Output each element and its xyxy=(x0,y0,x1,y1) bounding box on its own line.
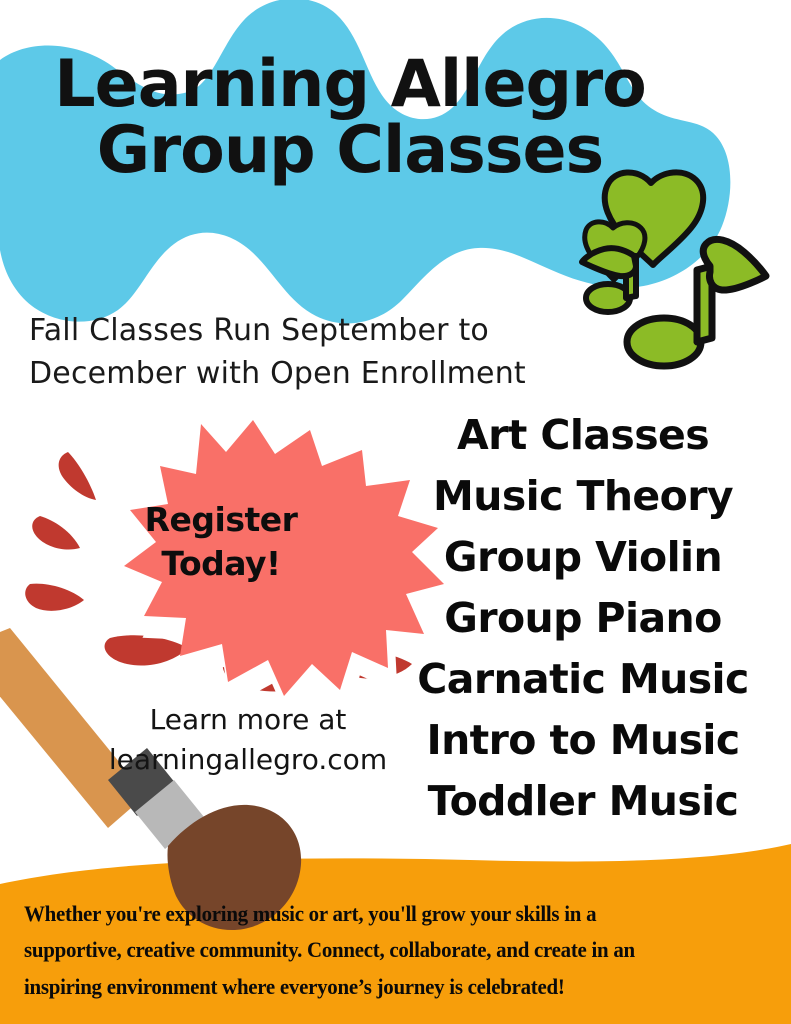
poster-canvas: Learning Allegro Group Classes Fall Clas… xyxy=(0,0,791,1024)
footer-line-2: supportive, creative community. Connect,… xyxy=(24,932,675,968)
subtitle: Fall Classes Run September to December w… xyxy=(29,310,549,395)
class-list: Art Classes Music Theory Group Violin Gr… xyxy=(403,405,763,833)
subtitle-line-1: Fall Classes Run September to xyxy=(29,310,549,353)
footer-description: Whether you're exploring music or art, y… xyxy=(24,896,724,1005)
class-item-art-classes: Art Classes xyxy=(403,405,763,466)
website-url[interactable]: learningallegro.com xyxy=(78,740,418,780)
heart-icon xyxy=(605,172,703,265)
headline-line-1: Learning Allegro xyxy=(0,52,700,118)
music-note-icon xyxy=(582,248,636,312)
register-today-callout[interactable]: Register Today! xyxy=(96,498,346,585)
headline-line-2: Group Classes xyxy=(0,118,700,184)
class-item-carnatic-music: Carnatic Music xyxy=(403,649,763,710)
subtitle-line-2: December with Open Enrollment xyxy=(29,353,549,396)
cta-line-1: Register xyxy=(96,498,346,542)
class-item-music-theory: Music Theory xyxy=(403,466,763,527)
cta-line-2: Today! xyxy=(96,542,346,586)
page-title: Learning Allegro Group Classes xyxy=(0,52,700,185)
class-item-group-violin: Group Violin xyxy=(403,527,763,588)
class-item-group-piano: Group Piano xyxy=(403,588,763,649)
class-item-intro-to-music: Intro to Music xyxy=(403,710,763,771)
footer-line-1: Whether you're exploring music or art, y… xyxy=(24,896,675,932)
learn-more-block: Learn more at learningallegro.com xyxy=(78,700,418,780)
footer-line-3: inspiring environment where everyone’s j… xyxy=(24,969,675,1005)
music-note-icon xyxy=(627,239,766,366)
learn-more-label: Learn more at xyxy=(78,700,418,740)
heart-icon xyxy=(585,222,645,280)
class-item-toddler-music: Toddler Music xyxy=(403,771,763,832)
